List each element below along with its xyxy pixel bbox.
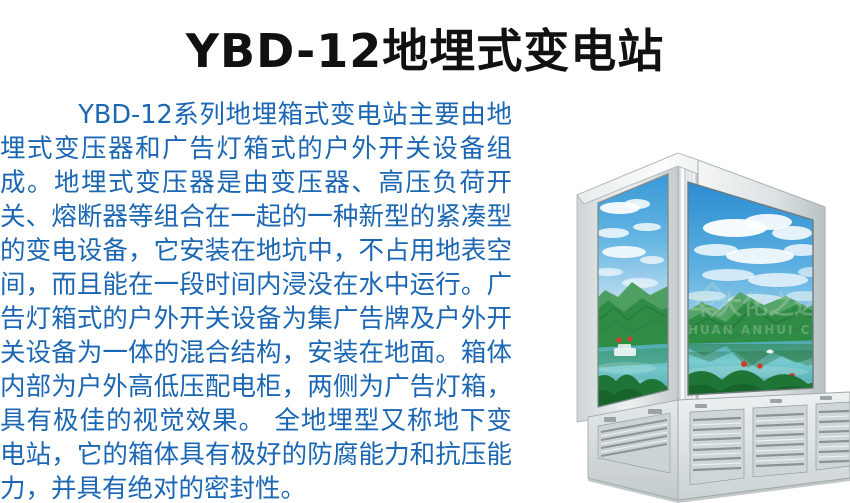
watermark-line1: 华大化之达 bbox=[690, 290, 820, 321]
louver-panel-right-1 bbox=[690, 409, 744, 485]
louver-panel-right-3 bbox=[816, 402, 850, 470]
page-title: YBD-12地埋式变电站 bbox=[0, 24, 850, 78]
product-info-page: YBD-12地埋式变电站 YBD-12系列地埋箱式变电站主要由地埋式变压器和广告… bbox=[0, 0, 850, 503]
product-description: YBD-12系列地埋箱式变电站主要由地埋式变压器和广告灯箱式的户外开关设备组成。… bbox=[0, 98, 512, 503]
louver-panel-right-2 bbox=[753, 405, 807, 477]
description-paragraph: YBD-12系列地埋箱式变电站主要由地埋式变压器和广告灯箱式的户外开关设备组成。… bbox=[0, 98, 512, 503]
right-lightbox-face: 华大化之达 HUAN ANHUI C bbox=[680, 160, 826, 410]
watermark-line2: HUAN ANHUI C bbox=[688, 323, 812, 337]
product-photo: 华大化之达 HUAN ANHUI C bbox=[520, 100, 850, 503]
watermark: 华大化之达 HUAN ANHUI C bbox=[688, 284, 820, 337]
